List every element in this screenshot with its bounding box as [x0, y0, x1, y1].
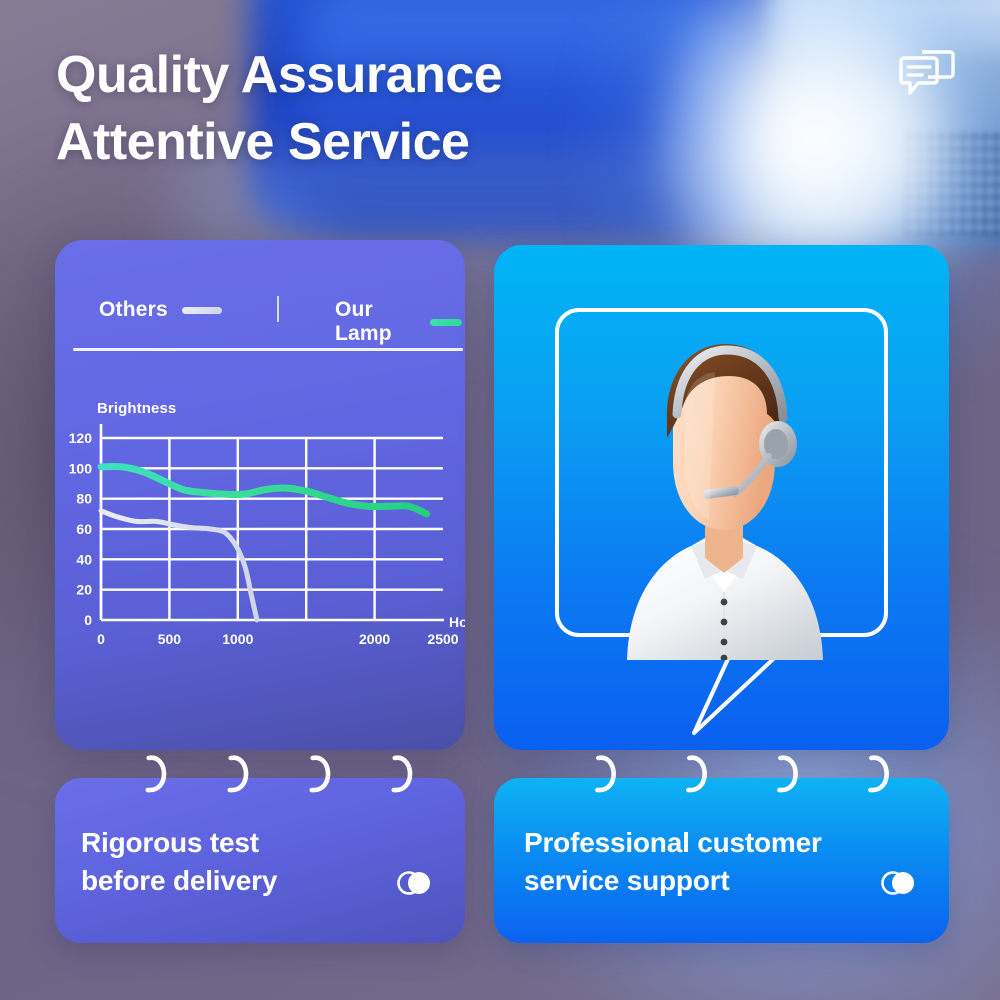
toggle-on-icon[interactable] — [879, 870, 917, 896]
note-card-customer-service: Professional customer service support — [494, 778, 949, 943]
support-photo-card — [494, 245, 949, 750]
spiral-ring — [779, 758, 795, 790]
page-title: Quality Assurance Attentive Service — [56, 42, 676, 175]
chart-x-tick-label: 1000 — [222, 631, 253, 647]
chart-x-tick-label: 2500 — [427, 631, 458, 647]
spiral-ring — [312, 758, 328, 790]
chart-y-tick-label: 0 — [84, 612, 92, 628]
legend-item-others: Others — [99, 298, 222, 322]
spiral-ring — [148, 758, 164, 790]
chart-x-tick-label: 500 — [158, 631, 182, 647]
chart-y-tick-label: 100 — [69, 460, 93, 476]
spiral-ring — [870, 758, 886, 790]
chart-y-tick-label: 120 — [69, 430, 93, 446]
chart-x-axis-title: Hours — [449, 614, 465, 630]
page-title-line-1: Quality Assurance — [56, 42, 676, 109]
note-left-text: Rigorous test before delivery — [81, 824, 277, 900]
chart-legend: Others Our Lamp — [77, 298, 462, 332]
chart-x-tick-label: 0 — [97, 631, 105, 647]
legend-underline — [73, 348, 463, 351]
page-title-line-2: Attentive Service — [56, 109, 676, 176]
avatar — [617, 330, 832, 660]
spiral-rings-right — [494, 752, 949, 802]
brightness-vs-hours-line-chart: 020406080100120 0500100020002500 Hours — [55, 420, 465, 740]
legend-label-our-lamp: Our Lamp — [335, 298, 416, 346]
spiral-ring — [597, 758, 613, 790]
legend-divider — [277, 296, 279, 322]
chart-y-tick-label: 40 — [76, 551, 92, 567]
note-left-line-2: before delivery — [81, 862, 277, 900]
spiral-rings-left — [55, 752, 465, 802]
chart-y-tick-label: 60 — [76, 521, 92, 537]
legend-swatch-our-lamp — [430, 319, 462, 326]
chart-y-tick-label: 80 — [76, 491, 92, 507]
note-card-rigorous-test: Rigorous test before delivery — [55, 778, 465, 943]
spiral-ring — [230, 758, 246, 790]
chart-y-axis-title: Brightness — [97, 400, 176, 417]
legend-swatch-others — [182, 307, 222, 314]
legend-label-others: Others — [99, 298, 168, 322]
chart-card: Others Our Lamp Brightness — [55, 240, 465, 750]
note-right-line-2: service support — [524, 862, 822, 900]
spiral-ring — [394, 758, 410, 790]
poster-canvas: Quality Assurance Attentive Service Othe… — [0, 0, 1000, 1000]
spiral-ring — [688, 758, 704, 790]
chart-plot-area: 020406080100120 0500100020002500 Hours — [55, 420, 465, 740]
legend-item-our-lamp: Our Lamp — [335, 298, 462, 346]
chart-y-tick-label: 20 — [76, 582, 92, 598]
chart-series-our-lamp — [101, 466, 427, 513]
toggle-on-icon[interactable] — [395, 870, 433, 896]
chart-x-tick-label: 2000 — [359, 631, 390, 647]
note-right-text: Professional customer service support — [524, 824, 822, 900]
chat-bubbles-icon — [898, 46, 956, 102]
chart-series-others — [101, 511, 257, 620]
note-right-line-1: Professional customer — [524, 824, 822, 862]
note-left-line-1: Rigorous test — [81, 824, 277, 862]
